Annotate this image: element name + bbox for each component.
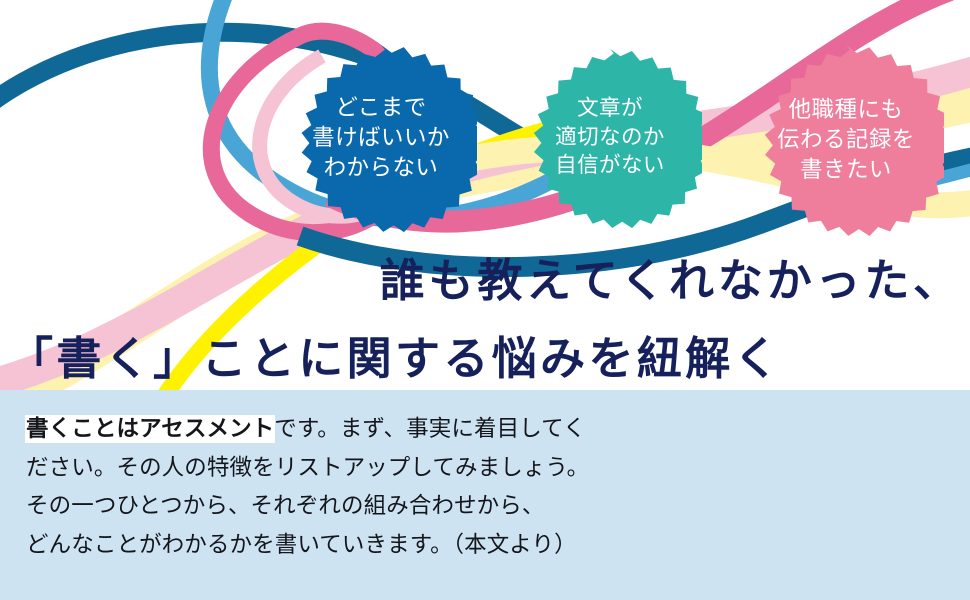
pain-point-badge-3-label: 他職種にも 伝わる記録を 書きたい <box>777 95 915 185</box>
pain-point-badge-2-label: 文章が 適切なのか 自信がない <box>555 95 665 181</box>
book-excerpt-quote: 書くことはアセスメントです。まず、事実に着目してく ださい。その人の特徴をリスト… <box>26 410 686 565</box>
pain-point-badge-3: 他職種にも 伝わる記録を 書きたい <box>748 42 944 238</box>
promo-banner: どこまで 書けばいいか わからない 文章が 適切なのか 自信がない 他職種にも … <box>0 0 970 600</box>
quote-highlight: 書くことはアセスメント <box>26 416 274 442</box>
quote-line-2: ださい。その人の特徴をリストアップしてみましょう。 <box>26 449 686 488</box>
quote-line-1: 書くことはアセスメントです。まず、事実に着目してく <box>26 410 686 449</box>
quote-line-3: その一つひとつから、それぞれの組み合わせから、 <box>26 487 686 526</box>
quote-line-1-rest: です。まず、事実に着目してく <box>274 416 585 442</box>
headline: 誰も教えてくれなかった、 「書く」ことに関する悩みを紐解く <box>0 244 970 387</box>
quote-panel: 書くことはアセスメントです。まず、事実に着目してく ださい。その人の特徴をリスト… <box>0 390 970 600</box>
headline-line-2: 「書く」ことに関する悩みを紐解く <box>0 322 970 387</box>
pain-point-badge-1: どこまで 書けばいいか わからない <box>285 42 477 234</box>
pain-point-badge-1-label: どこまで 書けばいいか わからない <box>312 93 450 183</box>
quote-line-4: どんなことがわかるかを書いていきます。（本文より） <box>26 526 686 565</box>
headline-line-1: 誰も教えてくれなかった、 <box>0 244 970 309</box>
pain-point-badge-2: 文章が 適切なのか 自信がない <box>518 46 702 230</box>
